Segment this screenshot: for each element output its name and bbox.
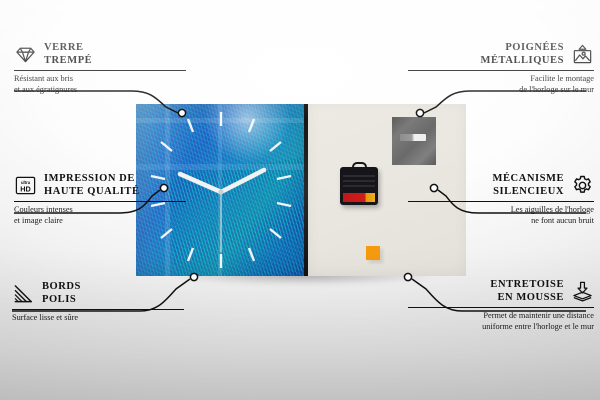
feature-desc: Couleurs intenses et image claire xyxy=(14,202,186,226)
feature-title: BORDS POLIS xyxy=(42,281,81,306)
feature-header: BORDS POLIS xyxy=(12,281,184,309)
svg-text:HD: HD xyxy=(20,184,31,193)
feature-title: IMPRESSION DE HAUTE QUALITÉ xyxy=(44,173,140,198)
hanging-frame-icon xyxy=(571,43,594,66)
infographic-canvas: VERRE TREMPÉ Résistant aux bris et aux é… xyxy=(0,0,600,400)
mechanism-ridge xyxy=(343,185,375,187)
feature-desc: Résistant aux bris et aux égratignures xyxy=(14,71,186,95)
feature-header: VERRE TREMPÉ xyxy=(14,42,186,70)
hanger-slot xyxy=(400,134,426,141)
feature-desc: Permet de maintenir une distance uniform… xyxy=(408,308,594,332)
feature-poignees-metalliques: POIGNÉES MÉTALLIQUES Facilite le montage… xyxy=(408,42,594,95)
feature-desc: Surface lisse et sûre xyxy=(12,310,184,324)
feature-title: POIGNÉES MÉTALLIQUES xyxy=(481,42,564,67)
feature-header: ENTRETOISE EN MOUSSE xyxy=(408,279,594,307)
feature-impression-haute-qualite: ultra HD IMPRESSION DE HAUTE QUALITÉ Cou… xyxy=(14,173,186,226)
feature-title: VERRE TREMPÉ xyxy=(44,42,92,67)
polished-edges-icon xyxy=(12,282,35,305)
foam-spacer xyxy=(366,246,380,260)
feature-header: MÉCANISME SILENCIEUX xyxy=(408,173,594,201)
mechanism-ridge xyxy=(343,175,375,177)
feature-title: ENTRETOISE EN MOUSSE xyxy=(490,279,564,304)
mechanism-ridge xyxy=(343,180,375,182)
ultra-hd-icon: ultra HD xyxy=(14,174,37,197)
feature-title: MÉCANISME SILENCIEUX xyxy=(493,173,564,198)
feature-verre-trempe: VERRE TREMPÉ Résistant aux bris et aux é… xyxy=(14,42,186,95)
diamond-icon xyxy=(14,43,37,66)
feature-header: ultra HD IMPRESSION DE HAUTE QUALITÉ xyxy=(14,173,186,201)
feature-entretoise-en-mousse: ENTRETOISE EN MOUSSE Permet de maintenir… xyxy=(408,279,594,332)
clock-mechanism xyxy=(340,167,378,205)
mechanism-loop xyxy=(352,162,367,170)
feature-mecanisme-silencieux: MÉCANISME SILENCIEUX Les aiguilles de l'… xyxy=(408,173,594,226)
gear-icon xyxy=(571,174,594,197)
feature-desc: Facilite le montage de l'horloge sur le … xyxy=(408,71,594,95)
battery-label xyxy=(343,193,375,202)
metal-hanger-plate xyxy=(392,117,436,165)
feature-desc: Les aiguilles de l'horloge ne font aucun… xyxy=(408,202,594,226)
foam-spacer-icon xyxy=(571,280,594,303)
feature-bords-polis: BORDS POLIS Surface lisse et sûre xyxy=(12,281,184,324)
feature-header: POIGNÉES MÉTALLIQUES xyxy=(408,42,594,70)
